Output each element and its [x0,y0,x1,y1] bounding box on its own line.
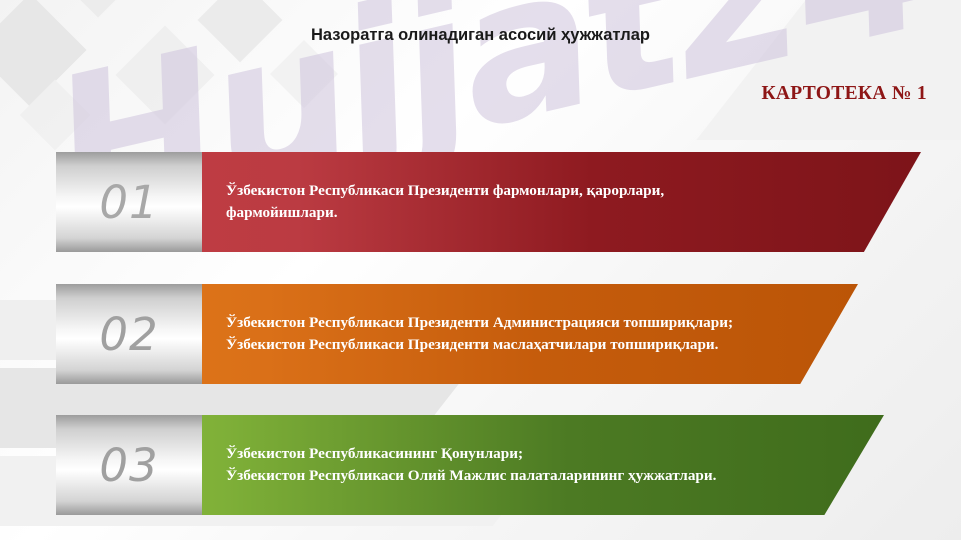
slide: Hujjat24 Назоратга олинадиган асосий ҳуж… [0,0,961,540]
kartoteka-label: КАРТОТЕКА № 1 [761,83,927,105]
list-item: 02 Ўзбекистон Республикаси Президенти Ад… [56,284,858,384]
item-text: Ўзбекистон Республикаси Президенти фармо… [226,180,664,223]
page-title: Назоратга олинадиган асосий ҳужжатлар [0,26,961,45]
item-text: Ўзбекистон Республикасининг Қонунлари; Ў… [226,443,716,486]
item-number: 02 [56,284,202,384]
item-body: Ўзбекистон Республикаси Президенти Админ… [202,284,858,384]
list-item: 03 Ўзбекистон Республикасининг Қонунлари… [56,415,884,515]
item-body: Ўзбекистон Республикасининг Қонунлари; Ў… [202,415,884,515]
item-text-line: Ўзбекистон Республикаси Президенти Админ… [226,312,733,334]
item-number: 03 [56,415,202,515]
item-text-line: Ўзбекистон Республикаси Президенти фармо… [226,180,664,202]
item-body: Ўзбекистон Республикаси Президенти фармо… [202,152,921,252]
list-item: 01 Ўзбекистон Республикаси Президенти фа… [56,152,921,252]
item-text-line: Ўзбекистон Республикаси Президенти масла… [226,334,733,356]
item-text-line: фармойишлари. [226,202,664,224]
item-number: 01 [56,152,202,252]
item-text-line: Ўзбекистон Республикаси Олий Мажлис пала… [226,465,716,487]
background-band-top-right [696,0,961,140]
item-text: Ўзбекистон Республикаси Президенти Админ… [226,312,733,355]
item-text-line: Ўзбекистон Республикасининг Қонунлари; [226,443,716,465]
